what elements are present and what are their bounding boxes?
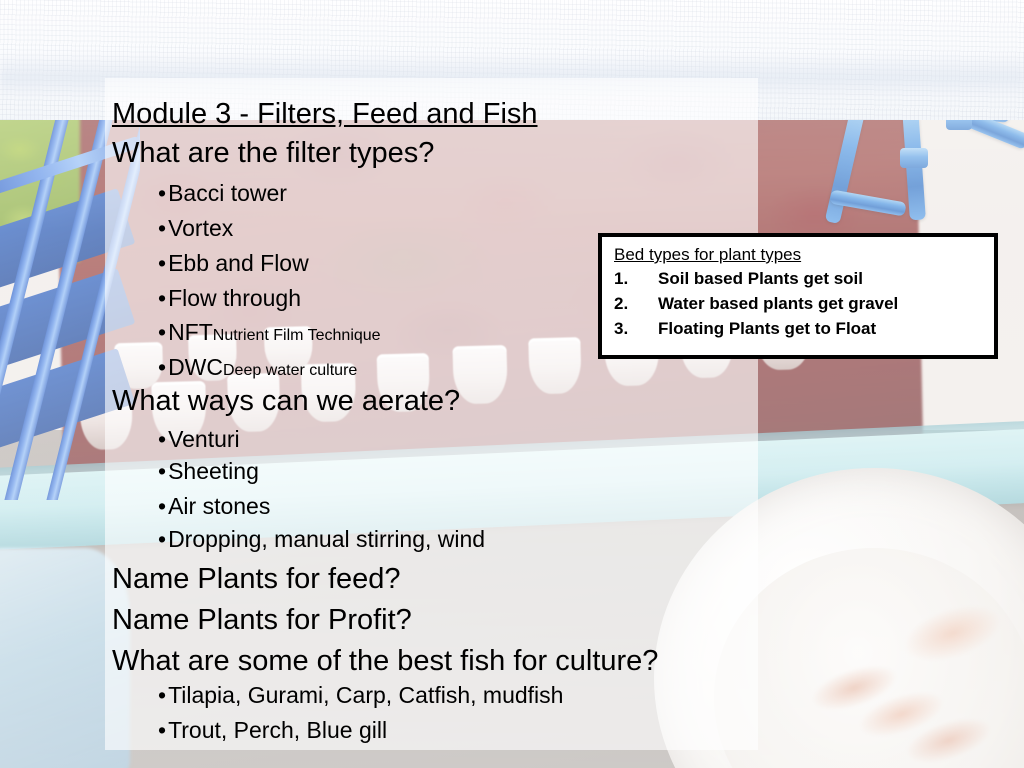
bullet-fish-list-warm: •Tilapia, Gurami, Carp, Catfish, mudfish	[158, 680, 563, 711]
callout-title: Bed types for plant types	[614, 243, 994, 266]
bullet-label: Vortex	[168, 215, 233, 241]
bullet-dropping-stirring-wind: •Dropping, manual stirring, wind	[158, 524, 485, 555]
bullet-bacci-tower: •Bacci tower	[158, 178, 287, 209]
bullet-dot-icon: •	[158, 215, 166, 241]
callout-item-number: 2.	[614, 291, 658, 316]
callout-item-number: 1.	[614, 266, 658, 291]
callout-item-label: Floating Plants get to Float	[658, 316, 876, 341]
callout-list-item: 2. Water based plants get gravel	[614, 291, 994, 316]
callout-item-label: Soil based Plants get soil	[658, 266, 863, 291]
bullet-label: Dropping, manual stirring, wind	[168, 526, 485, 552]
bullet-dwc: •DWCDeep water culture	[158, 352, 357, 386]
bullet-dot-icon: •	[158, 319, 166, 345]
bullet-venturi: •Venturi	[158, 424, 240, 455]
bullet-sublabel-dwc: Deep water culture	[223, 362, 357, 379]
bullet-label: DWC	[168, 354, 223, 380]
callout-item-number: 3.	[614, 316, 658, 341]
bullet-label: Air stones	[168, 493, 270, 519]
bullet-flow-through: •Flow through	[158, 283, 301, 314]
section-heading-best-fish: What are some of the best fish for cultu…	[112, 643, 658, 679]
bullet-label: Tilapia, Gurami, Carp, Catfish, mudfish	[168, 682, 563, 708]
bullet-dot-icon: •	[158, 285, 166, 311]
bullet-label: NFT	[168, 319, 213, 345]
bullet-fish-list-cold: •Trout, Perch, Blue gill	[158, 715, 387, 746]
section-heading-filter-types: What are the filter types?	[112, 135, 434, 171]
callout-list-item: 3. Floating Plants get to Float	[614, 316, 994, 341]
bullet-nft: •NFTNutrient Film Technique	[158, 317, 381, 351]
bullet-sublabel-nft: Nutrient Film Technique	[213, 327, 381, 344]
bullet-ebb-and-flow: •Ebb and Flow	[158, 248, 309, 279]
section-heading-aerate: What ways can we aerate?	[112, 383, 460, 419]
bullet-label: Sheeting	[168, 458, 259, 484]
bed-types-callout-box: Bed types for plant types 1. Soil based …	[598, 233, 998, 359]
callout-numbered-list: 1. Soil based Plants get soil 2. Water b…	[614, 266, 994, 341]
bullet-sheeting: •Sheeting	[158, 456, 259, 487]
slide-text-layer: Module 3 - Filters, Feed and Fish What a…	[0, 0, 1024, 768]
bullet-dot-icon: •	[158, 458, 166, 484]
bullet-dot-icon: •	[158, 717, 166, 743]
callout-item-label: Water based plants get gravel	[658, 291, 898, 316]
bullet-dot-icon: •	[158, 354, 166, 380]
bullet-dot-icon: •	[158, 526, 166, 552]
slide-title: Module 3 - Filters, Feed and Fish	[112, 96, 538, 132]
bullet-vortex: •Vortex	[158, 213, 233, 244]
bullet-air-stones: •Air stones	[158, 491, 270, 522]
section-heading-plants-for-profit: Name Plants for Profit?	[112, 602, 412, 638]
bullet-label: Venturi	[168, 426, 240, 452]
bullet-dot-icon: •	[158, 426, 166, 452]
bullet-dot-icon: •	[158, 682, 166, 708]
bullet-label: Trout, Perch, Blue gill	[168, 717, 387, 743]
bullet-label: Ebb and Flow	[168, 250, 309, 276]
section-heading-plants-for-feed: Name Plants for feed?	[112, 561, 401, 597]
bullet-dot-icon: •	[158, 180, 166, 206]
slide-canvas: Module 3 - Filters, Feed and Fish What a…	[0, 0, 1024, 768]
bullet-dot-icon: •	[158, 250, 166, 276]
callout-list-item: 1. Soil based Plants get soil	[614, 266, 994, 291]
bullet-label: Bacci tower	[168, 180, 287, 206]
bullet-dot-icon: •	[158, 493, 166, 519]
bullet-label: Flow through	[168, 285, 301, 311]
